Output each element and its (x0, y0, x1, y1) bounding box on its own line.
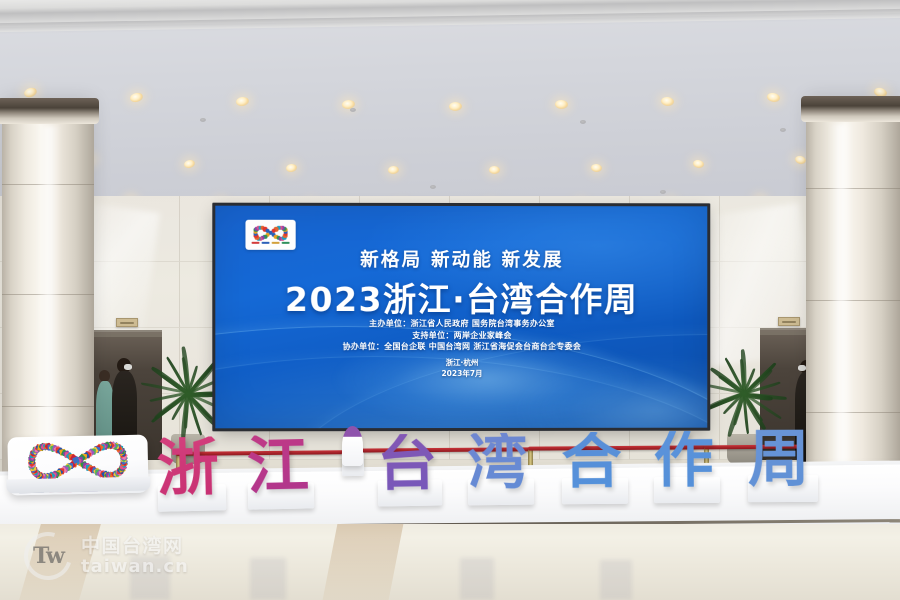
downlight (489, 166, 500, 174)
wall-panel (720, 196, 810, 262)
screen-organizers: 主办单位：浙江省人民政府 国务院台湾事务办公室 支持单位：两岸企业家峰会 协办单… (215, 318, 707, 353)
ceiling-fixture-unlit (350, 108, 356, 112)
downlight (766, 92, 781, 104)
column-left (2, 98, 94, 490)
watermark-mark-label: Tw (33, 543, 64, 569)
downlight (285, 163, 297, 172)
ceiling-fixture-unlit (200, 118, 206, 122)
ceiling-fixture-unlit (660, 190, 666, 194)
screen-place-date: 浙江·杭州 2023年7月 (215, 358, 707, 379)
organizer-line-coorganizer: 协办单位：全国台企联 中国台湾网 浙江省海促会台商台企专委会 (215, 341, 707, 353)
watermark-site-name-en: taiwan.cn (81, 557, 189, 576)
logo-card-caption (251, 242, 289, 244)
site-watermark: Tw 中国台湾网 taiwan.cn (22, 524, 222, 588)
infinity-loop-icon (254, 226, 288, 241)
downlight (184, 159, 196, 169)
ceiling-fixture-unlit (780, 128, 786, 132)
letter-prop-middot (342, 426, 363, 466)
screen-place: 浙江·杭州 (215, 358, 707, 369)
downlight (387, 166, 398, 174)
screen-title: 2023浙江·台湾合作周 (215, 273, 707, 321)
wall-sign-right (778, 317, 800, 326)
downlight (591, 163, 603, 172)
column-right (806, 96, 900, 492)
downlight (449, 102, 462, 111)
wall-panel (90, 196, 180, 262)
taiwan-cn-logo-icon: Tw (22, 530, 74, 582)
led-screen: 新格局 新动能 新发展 2023浙江·台湾合作周 主办单位：浙江省人民政府 国务… (215, 206, 707, 429)
downlight (23, 86, 38, 98)
downlight (692, 159, 704, 169)
downlight (794, 155, 807, 166)
photograph-scene: 新格局 新动能 新发展 2023浙江·台湾合作周 主办单位：浙江省人民政府 国务… (0, 0, 900, 600)
organizer-line-host: 主办单位：浙江省人民政府 国务院台湾事务办公室 (215, 318, 707, 330)
screen-date: 2023年7月 (215, 368, 707, 379)
downlight (129, 92, 144, 104)
ceiling (0, 0, 900, 215)
mosaic-infinity-icon (22, 441, 135, 481)
ceiling-fixture-unlit (580, 120, 586, 124)
downlight (660, 97, 674, 108)
mosaic-infinity-logo-block (7, 435, 148, 496)
screen-subtitle: 新格局 新动能 新发展 (215, 246, 707, 272)
organizer-line-support: 支持单位：两岸企业家峰会 (215, 329, 707, 341)
watermark-site-name-cn: 中国台湾网 (81, 536, 189, 557)
downlight (235, 97, 249, 108)
ceiling-fixture-unlit (430, 185, 436, 189)
downlight (554, 100, 568, 110)
wall-sign-left (116, 318, 138, 327)
